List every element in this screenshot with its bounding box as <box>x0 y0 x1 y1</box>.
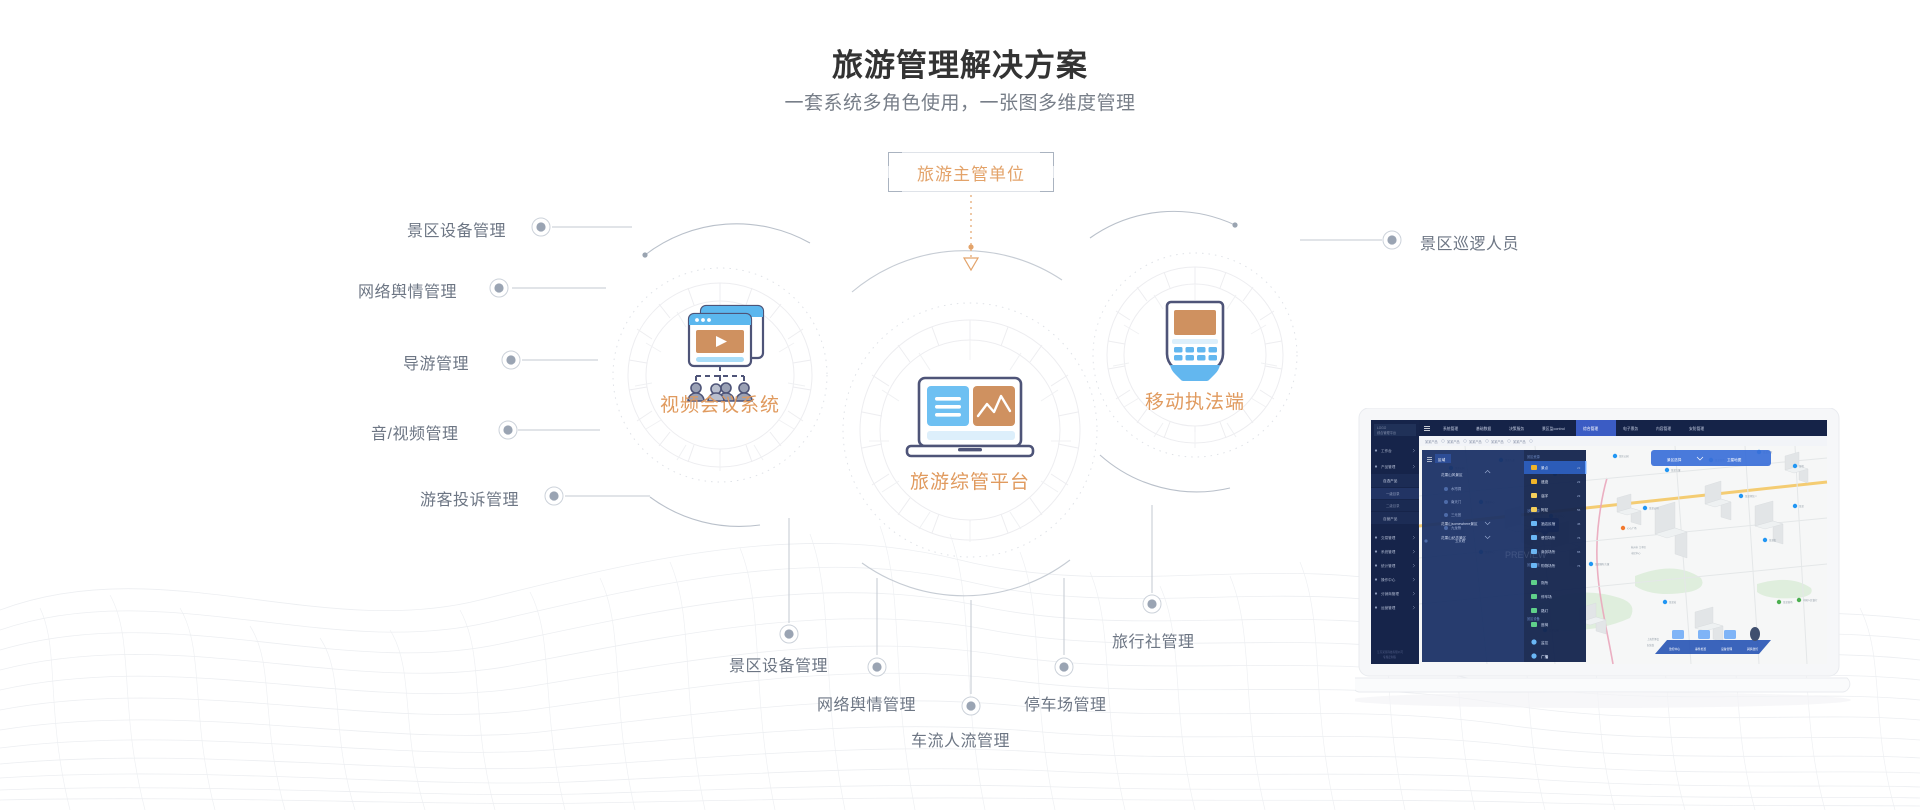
label-bottom-1: 景区设备管理 <box>729 652 828 676</box>
chip-connector <box>964 195 978 270</box>
svg-text:某区公园: 某区公园 <box>1619 454 1629 458</box>
svg-text:56: 56 <box>1577 508 1581 512</box>
svg-text:某某产品: 某某产品 <box>1469 439 1482 444</box>
svg-text:23: 23 <box>1577 480 1581 484</box>
svg-text:专属定制版: 专属定制版 <box>1383 655 1396 659</box>
svg-text:23: 23 <box>1577 466 1581 470</box>
svg-text:基础数据: 基础数据 <box>1476 426 1491 431</box>
svg-text:花果山风景区: 花果山风景区 <box>1441 472 1463 477</box>
svg-text:水帘洞: 水帘洞 <box>1451 486 1462 491</box>
svg-text:杭州市 江干区: 杭州市 江干区 <box>1631 545 1647 549</box>
svg-text:景点: 景点 <box>1541 465 1549 470</box>
chip-corner-tr <box>1040 152 1054 166</box>
svg-text:工作台: 工作台 <box>1381 448 1392 453</box>
svg-text:景区选择: 景区选择 <box>1667 457 1682 462</box>
label-bottom-2: 网络舆情管理 <box>817 691 916 715</box>
chip-corner-tl <box>888 152 902 166</box>
label-left-5: 游客投诉管理 <box>420 486 519 510</box>
svg-text:运营管理: 运营管理 <box>1381 605 1396 610</box>
label-bottom-4: 停车场管理 <box>1024 691 1107 715</box>
label-bottom-5: 旅行社管理 <box>1112 628 1195 652</box>
page-root: 旅游管理解决方案 一套系统多角色使用，一张图多维度管理 <box>0 0 1920 810</box>
svg-text:景区设备: 景区设备 <box>1527 616 1541 621</box>
svg-text:某某产品: 某某产品 <box>1513 439 1526 444</box>
svg-text:庙宇: 庙宇 <box>1541 493 1549 498</box>
svg-text:卫星地图: 卫星地图 <box>1727 457 1742 462</box>
svg-text:景区资源: 景区资源 <box>1527 454 1541 459</box>
svg-text:市民中心: 市民中心 <box>1631 551 1641 555</box>
authority-chip-label: 旅游主管单位 <box>917 160 1025 185</box>
svg-text:南天门: 南天门 <box>1451 499 1462 504</box>
svg-text:路灯: 路灯 <box>1541 608 1549 613</box>
chip-corner-br <box>1040 178 1054 192</box>
svg-text:76: 76 <box>1577 536 1581 540</box>
laptop-mockup: LOGO综合管理平台 工作台产品管理 自选产品 一级目录 二级目录 自营产品 交… <box>1355 408 1855 778</box>
svg-text:遗迹: 遗迹 <box>1541 479 1549 484</box>
label-right-1: 景区巡逻人员 <box>1420 230 1519 254</box>
authority-chip: 旅游主管单位 <box>888 152 1054 192</box>
svg-text:上海世博会: 上海世博会 <box>1647 637 1660 641</box>
video-conference-icon <box>688 306 763 401</box>
label-bottom-3: 车流人流管理 <box>911 727 1010 751</box>
label-left-1: 景区设备管理 <box>407 217 506 241</box>
svg-text:某某产品: 某某产品 <box>1447 439 1460 444</box>
svg-text:玉女峰: 玉女峰 <box>1455 538 1466 543</box>
svg-text:某某: 某某 <box>1799 504 1804 508</box>
svg-text:江苏某某科技有限公司: 江苏某某科技有限公司 <box>1377 650 1403 654</box>
svg-text:LOGO: LOGO <box>1377 426 1387 430</box>
chip-corner-bl <box>888 178 902 192</box>
svg-text:某某大厦: 某某大厦 <box>1671 468 1681 472</box>
svg-text:酒店民宿: 酒店民宿 <box>1541 521 1556 526</box>
svg-text:23: 23 <box>1577 494 1581 498</box>
svg-text:事件处置: 事件处置 <box>1695 647 1706 651</box>
svg-text:一级目录: 一级目录 <box>1386 491 1400 496</box>
svg-text:自选产品: 自选产品 <box>1383 478 1398 483</box>
svg-text:某某商场: 某某商场 <box>1783 600 1793 604</box>
svg-text:中国人民银行: 中国人民银行 <box>1803 598 1818 602</box>
svg-text:区域: 区域 <box>1438 457 1446 462</box>
svg-text:PREVIEW: PREVIEW <box>1505 550 1547 560</box>
svg-text:电子票务: 电子票务 <box>1623 426 1638 431</box>
svg-text:安防管理: 安防管理 <box>1689 426 1704 431</box>
svg-text:厕所: 厕所 <box>1541 580 1549 585</box>
label-left-3: 导游管理 <box>403 350 469 374</box>
svg-text:某某国际大厦: 某某国际大厦 <box>1595 562 1610 566</box>
svg-text:统计管理: 统计管理 <box>1381 563 1396 568</box>
svg-text:某某站: 某某站 <box>1669 600 1677 604</box>
svg-text:决策服务: 决策服务 <box>1509 426 1524 431</box>
svg-text:某某产品: 某某产品 <box>1425 439 1438 444</box>
svg-text:广播: 广播 <box>1541 654 1549 659</box>
svg-text:综合管理平台: 综合管理平台 <box>1377 430 1396 435</box>
svg-text:某某产品: 某某产品 <box>1491 439 1504 444</box>
svg-text:某某场馆 ×: 某某场馆 × <box>1745 494 1757 498</box>
svg-text:综合管理: 综合管理 <box>1583 426 1598 431</box>
svg-text:交易管理: 交易管理 <box>1381 535 1396 540</box>
svg-text:心心广场: 心心广场 <box>1627 526 1637 530</box>
svg-text:某某公司: 某某公司 <box>1649 506 1659 510</box>
svg-text:九龙桥: 九龙桥 <box>1451 525 1462 530</box>
svg-text:监控中心: 监控中心 <box>1669 647 1680 651</box>
svg-text:系统管理: 系统管理 <box>1443 426 1458 431</box>
svg-text:操作中心: 操作中心 <box>1381 577 1396 582</box>
svg-text:景区监control: 景区监control <box>1542 426 1565 431</box>
svg-text:产品管理: 产品管理 <box>1381 464 1396 469</box>
svg-text:监控: 监控 <box>1541 640 1549 645</box>
label-left-4: 音/视频管理 <box>371 420 458 444</box>
mobile-enforcement-icon <box>1167 302 1223 381</box>
node-title-video-conference: 视频会议系统 <box>620 390 820 417</box>
svg-text:购物场所: 购物场所 <box>1541 563 1556 568</box>
svg-text:舆情监控: 舆情监控 <box>1747 647 1758 651</box>
svg-text:二级目录: 二级目录 <box>1386 503 1400 508</box>
svg-text:某某街: 某某街 <box>1769 538 1777 542</box>
svg-text:系统管理: 系统管理 <box>1381 549 1396 554</box>
svg-text:纪念馆: 纪念馆 <box>1647 643 1655 647</box>
svg-text:76: 76 <box>1577 564 1581 568</box>
node-title-mobile-enforcement: 移动执法端 <box>1105 387 1285 414</box>
svg-text:65: 65 <box>1577 550 1581 554</box>
svg-text:内容管理: 内容管理 <box>1656 426 1671 431</box>
svg-text:座椅: 座椅 <box>1541 622 1549 627</box>
node-title-platform: 旅游综管平台 <box>870 467 1070 494</box>
right-connectors <box>1300 231 1401 249</box>
left-dots <box>490 218 563 505</box>
svg-text:某地: 某地 <box>1799 464 1804 468</box>
svg-text:停车场: 停车场 <box>1541 594 1552 599</box>
svg-text:阿尼: 阿尼 <box>1541 507 1549 512</box>
svg-text:分销商管理: 分销商管理 <box>1381 591 1399 596</box>
svg-text:三元宫: 三元宫 <box>1451 512 1462 517</box>
svg-text:45: 45 <box>1577 522 1581 526</box>
svg-text:设备管理: 设备管理 <box>1721 647 1732 651</box>
svg-text:自营产品: 自营产品 <box>1383 516 1398 521</box>
platform-laptop-icon <box>907 378 1033 456</box>
label-left-2: 网络舆情管理 <box>358 278 457 302</box>
svg-text:餐饮场所: 餐饮场所 <box>1541 535 1556 540</box>
